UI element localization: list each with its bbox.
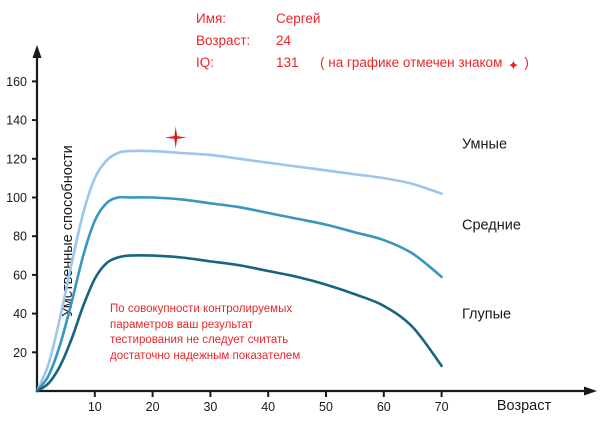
series-label-1: Средние (462, 218, 521, 234)
y-tick-label: 100 (6, 191, 27, 205)
annotation-line: параметров ваш результат (110, 318, 300, 334)
four-point-star-icon (165, 127, 187, 149)
x-tick-label: 60 (377, 400, 391, 414)
y-tick-label: 40 (13, 307, 27, 321)
x-tick-label: 40 (261, 400, 275, 414)
series-label-2: Глупые (462, 307, 511, 323)
x-tick-label: 10 (88, 400, 102, 414)
y-tick-label: 20 (13, 346, 27, 360)
series-labels: УмныеСредниеГлупые (462, 136, 521, 322)
chart-page: Имя: Сергей Возраст: 24 IQ: 131 ( на гра… (0, 0, 604, 421)
x-axis-title: Возраст (497, 398, 552, 414)
x-tick-label: 20 (146, 400, 160, 414)
y-tick-label: 160 (6, 75, 27, 89)
x-axis (37, 387, 597, 396)
y-axis (33, 45, 42, 391)
x-axis-ticks: 10203040506070 (88, 390, 449, 414)
series-label-0: Умные (462, 136, 507, 152)
x-tick-label: 50 (319, 400, 333, 414)
annotation-line: достаточно надежным показателем (110, 349, 300, 365)
x-tick-label: 30 (203, 400, 217, 414)
annotation-line: тестирования не следует считать (110, 333, 300, 349)
y-tick-label: 140 (6, 114, 27, 128)
reliability-annotation: По совокупности контролируемых параметро… (110, 302, 300, 364)
iq-marker-star-icon (165, 127, 187, 149)
y-tick-label: 60 (13, 268, 27, 282)
intelligence-vs-age-chart: 20406080100120140160 10203040506070 Умст… (0, 0, 604, 421)
y-axis-ticks: 20406080100120140160 (6, 75, 38, 360)
y-tick-label: 80 (13, 230, 27, 244)
y-tick-label: 120 (6, 152, 27, 166)
x-tick-label: 70 (435, 400, 449, 414)
annotation-line: По совокупности контролируемых (110, 302, 300, 318)
